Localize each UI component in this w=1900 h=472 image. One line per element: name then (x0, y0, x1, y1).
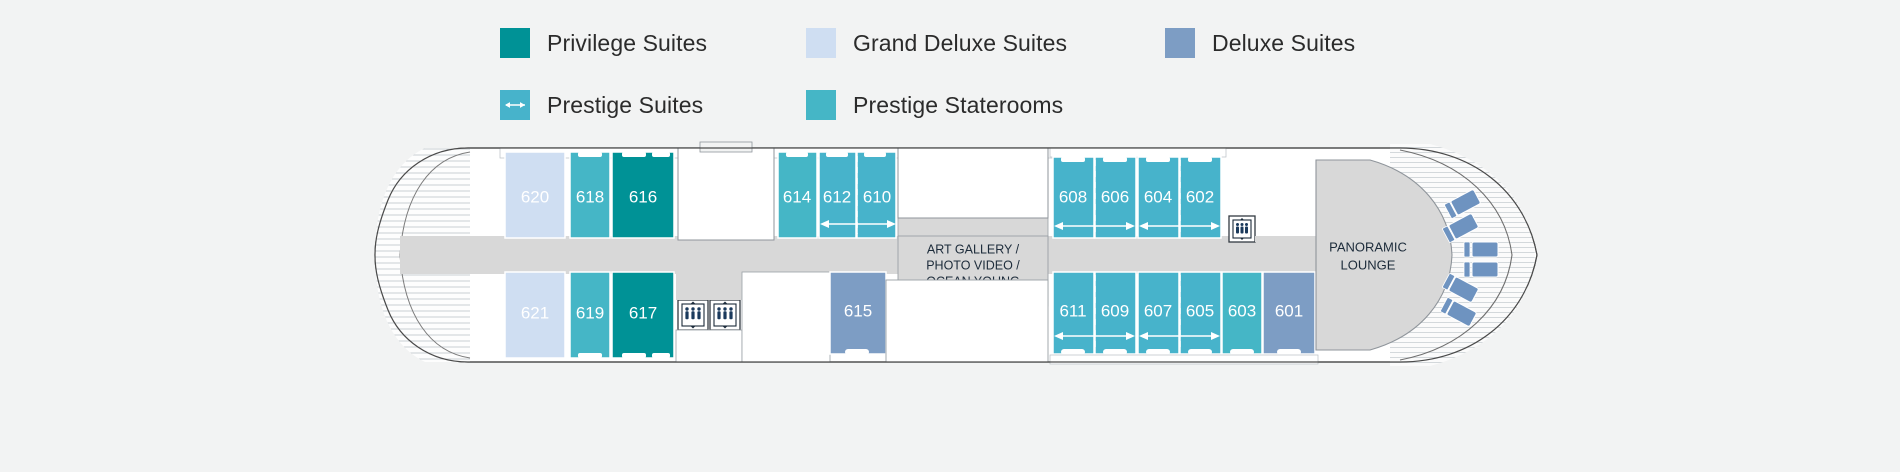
cabin-615-label: 615 (844, 301, 872, 320)
legend-item-deluxe-suites: Deluxe Suites (1165, 28, 1355, 58)
cabin-601[interactable]: 601 (1263, 272, 1315, 355)
prestige-suites-swatch (500, 90, 530, 120)
legend-label-prestige-suites: Prestige Suites (547, 92, 703, 119)
deluxe-suites-swatch (1165, 28, 1195, 58)
lounger-mid-1 (1464, 242, 1498, 257)
privilege-suites-swatch (500, 28, 530, 58)
lower-starboard-rail (1050, 355, 1318, 364)
cabin-607[interactable]: 607 (1138, 272, 1179, 355)
cabin-620-label: 620 (521, 187, 549, 206)
cabin-603-label: 603 (1228, 301, 1256, 320)
upper-service-block (678, 148, 774, 240)
cabin-617[interactable]: 617 (612, 272, 674, 358)
elevator-people-icon (717, 307, 732, 319)
cabin-611[interactable]: 611 (1053, 272, 1094, 355)
cabin-614-label: 614 (783, 187, 811, 206)
cabin-619[interactable]: 619 (570, 272, 610, 358)
cabin-603[interactable]: 603 (1222, 272, 1262, 355)
cabin-614[interactable]: 614 (778, 152, 817, 238)
deck-plan-diagram: 620 618 616 614 612 (0, 140, 1900, 370)
lower-mid-service-block (886, 280, 1048, 362)
cabin-619-label: 619 (576, 303, 604, 322)
lower-lobby (676, 272, 742, 300)
cabin-604-label: 604 (1144, 187, 1172, 206)
upper-starboard-rail (1050, 148, 1226, 157)
lower-service-block-a (676, 330, 742, 362)
elevator-lower-left-b[interactable] (710, 300, 740, 330)
art-gallery-line-2: PHOTO VIDEO / (926, 258, 1020, 272)
legend-item-privilege-suites: Privilege Suites (500, 28, 707, 58)
cabin-605-label: 605 (1186, 301, 1214, 320)
cabin-618-label: 618 (576, 187, 604, 206)
cabin-607-label: 607 (1144, 301, 1172, 320)
cabin-609[interactable]: 609 (1095, 272, 1136, 355)
cabin-615[interactable]: 615 (830, 272, 886, 355)
elevator-lower-left-a[interactable] (678, 300, 708, 330)
lower-service-block-b (742, 272, 830, 362)
legend-label-privilege-suites: Privilege Suites (547, 30, 707, 57)
elevator-people-icon (1236, 223, 1248, 234)
cabin-620[interactable]: 620 (505, 152, 565, 238)
cabin-618[interactable]: 618 (570, 152, 610, 238)
cabin-605[interactable]: 605 (1180, 272, 1221, 355)
elevator-people-icon (685, 307, 700, 319)
deck-plan-page: Privilege Suites Grand Deluxe Suites Del… (0, 0, 1900, 472)
legend-item-grand-deluxe-suites: Grand Deluxe Suites (806, 28, 1067, 58)
legend-label-deluxe-suites: Deluxe Suites (1212, 30, 1355, 57)
lounger-mid-2 (1464, 262, 1498, 277)
cabin-616[interactable]: 616 (612, 152, 674, 238)
cabin-601-label: 601 (1275, 301, 1303, 320)
upper-service-notch (700, 142, 752, 152)
panoramic-lounge-line-2: LOUNGE (1341, 257, 1396, 272)
cabin-617-label: 617 (629, 303, 657, 322)
cabin-608-label: 608 (1059, 187, 1087, 206)
corridor-stub-right (1255, 236, 1295, 242)
elevator-upper-right[interactable] (1229, 216, 1255, 242)
legend-item-prestige-staterooms: Prestige Staterooms (806, 90, 1063, 120)
legend-item-prestige-suites: Prestige Suites (500, 90, 703, 120)
cabin-606-label: 606 (1101, 187, 1129, 206)
prestige-staterooms-swatch (806, 90, 836, 120)
cabin-616-label: 616 (629, 187, 657, 206)
cabin-621-label: 621 (521, 303, 549, 322)
cabin-612-label: 612 (823, 187, 851, 206)
panoramic-lounge-line-1: PANORAMIC (1329, 239, 1407, 254)
cabin-610-label: 610 (863, 187, 891, 206)
cabin-611-label: 611 (1059, 301, 1086, 320)
legend: Privilege Suites Grand Deluxe Suites Del… (500, 28, 1400, 133)
double-arrow-icon (504, 100, 526, 111)
legend-label-prestige-staterooms: Prestige Staterooms (853, 92, 1063, 119)
cabin-609-label: 609 (1101, 301, 1129, 320)
cabin-602-label: 602 (1186, 187, 1214, 206)
grand-deluxe-suites-swatch (806, 28, 836, 58)
legend-label-grand-deluxe-suites: Grand Deluxe Suites (853, 30, 1067, 57)
art-gallery-line-1: ART GALLERY / (927, 242, 1020, 256)
cabin-621[interactable]: 621 (505, 272, 565, 358)
upper-mid-service-block (898, 148, 1048, 218)
